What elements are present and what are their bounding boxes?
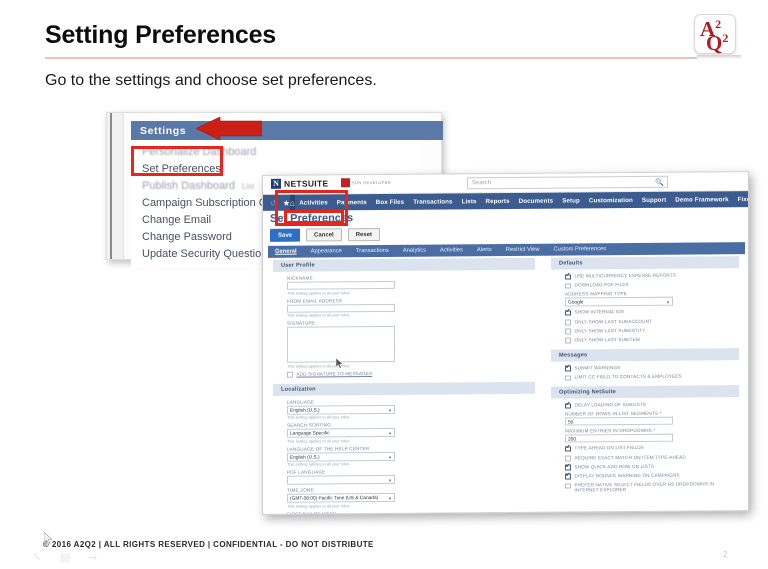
nav-links-group: ActivitiesPaymentsBox FilesTransactionsL… xyxy=(295,195,749,206)
checkbox-label: SUBMIT WARNINGS xyxy=(575,365,621,370)
checkbox-box[interactable] xyxy=(565,366,571,372)
address-mapping-type-field: ADDRESS MAPPING TYPEGoogle▼ xyxy=(551,291,739,307)
checkbox-label: REQUIRE EXACT MATCH ON ITEM TYPE-AHEAD xyxy=(575,454,686,460)
checkbox-box[interactable] xyxy=(565,483,571,489)
input-value: 200 xyxy=(566,435,672,442)
nav-link-fixed-assets[interactable]: Fixed Assets xyxy=(733,195,749,202)
field-label: TIME ZONE xyxy=(287,486,535,493)
logo-sup-1: 2 xyxy=(715,17,721,31)
checkbox-box[interactable] xyxy=(565,338,571,344)
field-first-day-of-week: FIRST DAY OF WEEKSunday▼This setting app… xyxy=(273,509,535,515)
section-header-user-profile: User Profile xyxy=(273,258,535,272)
checkbox-label: DOWNLOAD PDF FILES xyxy=(575,282,629,287)
field-search-sorting: SEARCH SORTINGLanguage Specific▼This set… xyxy=(273,421,535,444)
menu-item-label: Change Email xyxy=(142,214,211,226)
field-time-zone: TIME ZONE(GMT-08:00) Pacific Time (US & … xyxy=(273,486,535,509)
checkbox-label: PREFER NATIVE SELECT FIELDS OVER NS DROP… xyxy=(575,481,740,492)
checkbox-show-internal-ids[interactable]: SHOW INTERNAL IDS xyxy=(551,309,739,316)
field-label: FIRST DAY OF WEEK xyxy=(287,509,535,515)
checkbox-label: DISPLAY BOUNCE WARNING ON CAMPAIGNS xyxy=(575,473,680,479)
select-pdf-language[interactable]: ▼ xyxy=(287,475,395,485)
search-icon[interactable]: 🔍 xyxy=(655,179,664,187)
field-language: LANGUAGEEnglish (U.S.)▼This setting appl… xyxy=(273,397,535,420)
field-hint: This setting applies to all your roles xyxy=(287,361,535,368)
optimizing-fields: NUMBER OF ROWS IN LIST SEGMENTS *50MAXIM… xyxy=(551,410,739,442)
checkbox-only-show-last-subentity[interactable]: ONLY SHOW LAST SUBENTITY xyxy=(551,327,739,334)
browser-scroll-rail xyxy=(110,113,112,259)
field-maximum-entries-in-dropdowns: MAXIMUM ENTRIES IN DROPDOWNS *200 xyxy=(551,427,739,442)
search-placeholder: Search xyxy=(472,180,491,186)
defaults-checks-bottom: SHOW INTERNAL IDSONLY SHOW LAST SUBACCOU… xyxy=(551,309,739,344)
netsuite-logo: N NETSUITE xyxy=(271,178,328,188)
chevron-down-icon[interactable]: ▼ xyxy=(388,407,392,412)
section-header-messages: Messages xyxy=(551,348,739,361)
field-pdf-language: PDF LANGUAGE▼ xyxy=(273,468,535,485)
checkbox-display-bounce-warning-on-campaigns[interactable]: DISPLAY BOUNCE WARNING ON CAMPAIGNS xyxy=(551,472,739,479)
tab-analytics[interactable]: Analytics xyxy=(396,248,433,254)
field-hint: This setting applies to all your roles xyxy=(287,288,535,295)
input-maximum-entries-in-dropdowns[interactable]: 200 xyxy=(565,434,673,443)
tab-restrict-view[interactable]: Restrict View xyxy=(499,247,547,253)
preferences-form-body: User Profile NICKNAMEThis setting applie… xyxy=(268,256,745,510)
menu-item-label: Update Security Questions xyxy=(142,248,273,260)
note-icon[interactable]: ▤ xyxy=(60,553,76,564)
tab-custom-preferences[interactable]: Custom Preferences xyxy=(546,246,613,253)
field-language-of-the-help-center: LANGUAGE OF THE HELP CENTEREnglish (U.S.… xyxy=(273,444,535,467)
nav-link-transactions[interactable]: Transactions xyxy=(409,198,457,205)
slide-page-number: 2 xyxy=(723,550,727,559)
checkbox-limit-cc-field-to-contacts-employees[interactable]: LIMIT CC FIELD TO CONTACTS & EMPLOYEES xyxy=(551,373,739,380)
mouse-cursor-footer-icon xyxy=(44,532,53,545)
field-label: NICKNAME xyxy=(287,274,535,281)
select-language[interactable]: English (U.S.)▼ xyxy=(287,404,395,414)
checkbox-box[interactable] xyxy=(565,283,571,289)
nav-link-demo-framework[interactable]: Demo Framework xyxy=(671,196,733,203)
chevron-down-icon[interactable]: ▼ xyxy=(388,454,392,459)
tab-transactions[interactable]: Transactions xyxy=(349,248,396,254)
checkbox-show-quick-add-row-on-lists[interactable]: SHOW QUICK ADD ROW ON LISTS xyxy=(551,463,739,470)
field-from-email-address: FROM EMAIL ADDRESSThis setting applies t… xyxy=(273,296,535,318)
tab-activities[interactable]: Activities xyxy=(433,247,470,253)
section-header-optimizing-netsuite: Optimizing NetSuite xyxy=(551,385,739,398)
nav-link-box-files[interactable]: Box Files xyxy=(371,198,408,205)
arrow-right-icon[interactable]: ➞ xyxy=(88,553,104,564)
logo-shadow xyxy=(697,55,741,59)
checkbox-box[interactable] xyxy=(565,474,571,480)
localization-fields: LANGUAGEEnglish (U.S.)▼This setting appl… xyxy=(273,397,535,515)
chevron-down-icon[interactable]: ▼ xyxy=(388,431,392,436)
select-value: English (U.S.) xyxy=(290,408,320,413)
select-address-mapping-type[interactable]: Google▼ xyxy=(565,297,673,307)
chevron-down-icon[interactable]: ▼ xyxy=(388,478,392,483)
checkbox-label: ONLY SHOW LAST SUBACCOUNT xyxy=(575,318,653,324)
select-language-of-the-help-center[interactable]: English (U.S.)▼ xyxy=(287,451,395,461)
field-nickname: NICKNAMEThis setting applies to all your… xyxy=(273,274,535,296)
defaults-checks-top: USE MULTICURRENCY EXPENSE REPORTSDOWNLOA… xyxy=(551,272,739,289)
netsuite-logo-mark: N xyxy=(271,179,281,189)
netsuite-wordmark: NETSUITE xyxy=(284,178,328,188)
checkbox-submit-warnings[interactable]: SUBMIT WARNINGS xyxy=(551,364,739,371)
field-label: LANGUAGE OF THE HELP CENTER xyxy=(287,444,535,451)
add-signature-to-messages-checkbox[interactable]: ADD SIGNATURE TO MESSAGES xyxy=(273,369,535,377)
nav-link-lists[interactable]: Lists xyxy=(457,198,481,205)
field-label: FROM EMAIL ADDRESS xyxy=(287,296,535,303)
checkbox-label: DELAY LOADING OF SUBLISTS xyxy=(575,402,647,408)
checkbox-box[interactable] xyxy=(565,465,571,471)
field-label: PDF LANGUAGE xyxy=(287,468,535,475)
input-nickname[interactable] xyxy=(287,281,395,290)
checkbox-label: USE MULTICURRENCY EXPENSE REPORTS xyxy=(575,273,676,279)
menu-item-label: Publish Dashboard xyxy=(142,180,235,192)
field-label: SEARCH SORTING xyxy=(287,421,535,428)
slide-toolbar-icons[interactable]: ✎ ▤ ➞ xyxy=(32,553,104,564)
footer-copyright: © 2016 A2Q2 | ALL RIGHTS RESERVED | CONF… xyxy=(43,540,374,549)
checkbox-delay-loading-of-sublists[interactable]: DELAY LOADING OF SUBLISTS xyxy=(551,401,739,408)
checkbox-box[interactable] xyxy=(565,446,571,452)
checkbox-use-multicurrency-expense-reports[interactable]: USE MULTICURRENCY EXPENSE REPORTS xyxy=(551,272,739,279)
field-label: NUMBER OF ROWS IN LIST SEGMENTS * xyxy=(565,410,739,416)
save-button[interactable]: Save xyxy=(270,229,300,242)
badge-label: SDN DEVELOPER xyxy=(352,180,391,185)
menu-item-trailing: List xyxy=(242,182,254,191)
checkbox-box[interactable] xyxy=(565,329,571,335)
field-number-of-rows-in-list-segments: NUMBER OF ROWS IN LIST SEGMENTS *50 xyxy=(551,410,739,425)
field-label: SIGNATURE xyxy=(287,319,535,326)
a2q2-logo-text: A2 Q2 xyxy=(695,15,735,53)
checkbox-only-show-last-subitem[interactable]: ONLY SHOW LAST SUBITEM xyxy=(551,336,739,343)
select-value: (GMT-08:00) Pacific Time (US & Canada) xyxy=(290,496,378,502)
chevron-down-icon[interactable]: ▼ xyxy=(666,300,670,305)
field-label: MAXIMUM ENTRIES IN DROPDOWNS * xyxy=(565,427,739,433)
highlight-box-preferences-title xyxy=(284,210,344,224)
preferences-tab-bar[interactable]: GeneralAppearanceTransactionsAnalyticsAc… xyxy=(268,242,745,258)
page-title: Setting Preferences xyxy=(45,21,276,50)
mouse-cursor-icon xyxy=(336,358,344,369)
nav-link-customization[interactable]: Customization xyxy=(584,196,637,203)
settings-menu-header: Settings xyxy=(131,121,443,140)
highlight-box-set-preferences xyxy=(131,146,223,176)
nav-link-reports[interactable]: Reports xyxy=(481,197,514,204)
tab-alerts[interactable]: Alerts xyxy=(470,247,499,253)
input-from-email-address[interactable] xyxy=(287,303,395,312)
checkbox-label: TYPE-AHEAD ON LIST FIELDS xyxy=(575,445,645,451)
pen-icon[interactable]: ✎ xyxy=(32,553,48,564)
sdn-developer-badge: SDN DEVELOPER xyxy=(341,178,391,187)
field-address-mapping-type: ADDRESS MAPPING TYPEGoogle▼ xyxy=(551,291,739,307)
tab-general[interactable]: General xyxy=(268,249,304,255)
checkbox-box[interactable] xyxy=(565,375,571,381)
select-search-sorting[interactable]: Language Specific▼ xyxy=(287,428,395,438)
nav-link-setup[interactable]: Setup xyxy=(558,197,585,204)
optimizing-checks-bottom: TYPE-AHEAD ON LIST FIELDSREQUIRE EXACT M… xyxy=(551,444,739,492)
section-header-localization: Localization xyxy=(273,381,535,395)
checkbox-box[interactable] xyxy=(565,403,571,409)
checkbox-box[interactable] xyxy=(565,310,571,316)
nav-link-documents[interactable]: Documents xyxy=(514,197,558,204)
reset-button[interactable]: Reset xyxy=(348,228,380,241)
select-value: Language Specific xyxy=(290,431,329,436)
a2q2-logo: A2 Q2 xyxy=(694,14,736,54)
global-search-input[interactable]: Search 🔍 xyxy=(467,176,668,190)
user-profile-fields: NICKNAMEThis setting applies to all your… xyxy=(273,274,535,369)
checkbox-download-pdf-files[interactable]: DOWNLOAD PDF FILES xyxy=(551,281,739,288)
section-header-defaults: Defaults xyxy=(551,256,739,269)
red-arrow-pointer xyxy=(196,117,262,140)
menu-item-label: Change Password xyxy=(142,231,232,243)
checkbox-type-ahead-on-list-fields[interactable]: TYPE-AHEAD ON LIST FIELDS xyxy=(551,444,739,451)
field-signature: SIGNATUREThis setting applies to all you… xyxy=(273,319,535,369)
logo-letter-q: Q xyxy=(706,31,722,55)
cancel-button[interactable]: Cancel xyxy=(306,228,342,241)
checkbox-label: SHOW QUICK ADD ROW ON LISTS xyxy=(575,464,655,470)
checkbox-require-exact-match-on-item-type-ahead[interactable]: REQUIRE EXACT MATCH ON ITEM TYPE-AHEAD xyxy=(551,454,739,461)
checkbox-label: ADD SIGNATURE TO MESSAGES xyxy=(297,371,373,377)
field-hint: This setting applies to all your roles xyxy=(287,311,535,318)
select-value: Google xyxy=(568,301,583,306)
page-subtitle: Go to the settings and choose set prefer… xyxy=(45,72,377,90)
messages-checks: SUBMIT WARNINGSLIMIT CC FIELD TO CONTACT… xyxy=(551,364,739,381)
logo-sup-2: 2 xyxy=(722,31,728,45)
optimizing-checks-top: DELAY LOADING OF SUBLISTS xyxy=(551,401,739,408)
badge-square-icon xyxy=(341,178,350,187)
form-action-buttons: SaveCancelReset xyxy=(270,228,380,242)
checkbox-box[interactable] xyxy=(287,372,293,378)
chevron-down-icon[interactable]: ▼ xyxy=(388,496,392,501)
checkbox-label: ONLY SHOW LAST SUBITEM xyxy=(575,337,640,343)
checkbox-label: ONLY SHOW LAST SUBENTITY xyxy=(575,328,646,334)
checkbox-label: LIMIT CC FIELD TO CONTACTS & EMPLOYEES xyxy=(575,374,682,380)
title-divider xyxy=(45,57,723,59)
checkbox-only-show-last-subaccount[interactable]: ONLY SHOW LAST SUBACCOUNT xyxy=(551,318,739,325)
left-column: User Profile NICKNAMEThis setting applie… xyxy=(273,258,535,515)
field-label: LANGUAGE xyxy=(287,397,535,404)
checkbox-box[interactable] xyxy=(565,320,571,326)
nav-link-support[interactable]: Support xyxy=(637,196,670,203)
checkbox-box[interactable] xyxy=(565,455,571,461)
right-column: Defaults USE MULTICURRENCY EXPENSE REPOR… xyxy=(551,256,739,496)
checkbox-box[interactable] xyxy=(565,274,571,280)
checkbox-label: SHOW INTERNAL IDS xyxy=(575,309,625,314)
tab-appearance[interactable]: Appearance xyxy=(304,248,349,254)
select-value: English (U.S.) xyxy=(290,455,320,460)
checkbox-prefer-native-select-fields-over-ns-dropdowns-in-internet-explorer[interactable]: PREFER NATIVE SELECT FIELDS OVER NS DROP… xyxy=(551,481,739,492)
input-value: 50 xyxy=(566,418,672,425)
field-label: ADDRESS MAPPING TYPE xyxy=(565,291,739,297)
select-time-zone[interactable]: (GMT-08:00) Pacific Time (US & Canada)▼ xyxy=(287,493,395,503)
input-number-of-rows-in-list-segments[interactable]: 50 xyxy=(565,417,673,426)
